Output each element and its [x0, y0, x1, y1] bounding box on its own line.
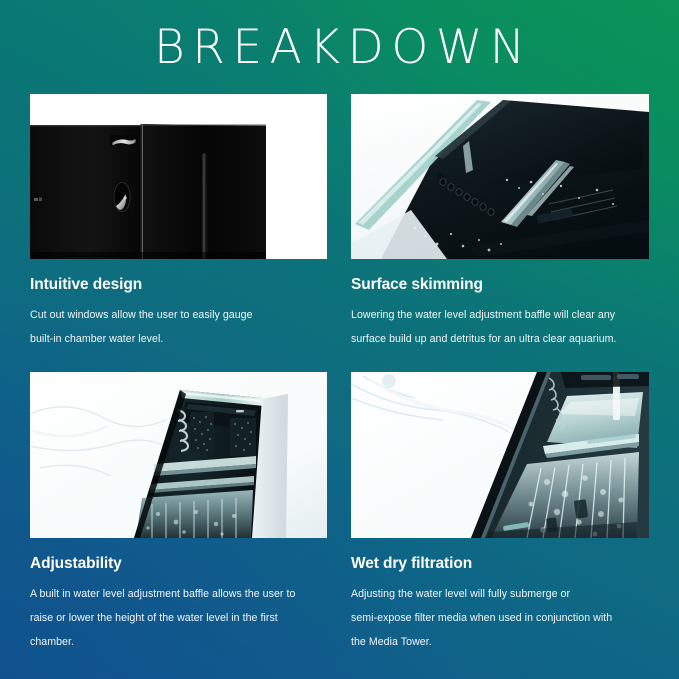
overflow-chamber-vertical-illustration	[30, 372, 327, 538]
feature-image-adjustability	[30, 372, 327, 538]
feature-title-wet-dry-filtration: Wet dry filtration	[351, 554, 649, 573]
breakdown-poster: BREAKDOWN	[0, 0, 679, 679]
feature-image-wet-dry-filtration	[351, 372, 649, 538]
overflow-box-front-illustration	[30, 94, 327, 259]
feature-body-intuitive-design-line-2: built-in chamber water level.	[30, 327, 327, 351]
feature-text-surface-skimming: Surface skimming Lowering the water leve…	[351, 259, 649, 351]
feature-body-adjustability-line-1: A built in water level adjustment baffle…	[30, 582, 327, 606]
filter-media-chamber-illustration	[351, 372, 649, 538]
feature-cell-intuitive-design: Intuitive design Cut out windows allow t…	[30, 94, 327, 351]
overflow-chamber-top-illustration	[351, 94, 649, 259]
feature-body-adjustability-line-3: chamber.	[30, 630, 327, 654]
feature-title-adjustability: Adjustability	[30, 554, 327, 573]
feature-cell-wet-dry-filtration: Wet dry filtration Adjusting the water l…	[351, 372, 649, 654]
feature-row-bottom: Adjustability A built in water level adj…	[30, 372, 649, 654]
feature-text-wet-dry-filtration: Wet dry filtration Adjusting the water l…	[351, 538, 649, 654]
feature-body-adjustability-line-2: raise or lower the height of the water l…	[30, 606, 327, 630]
feature-body-surface-skimming-line-1: Lowering the water level adjustment baff…	[351, 303, 649, 327]
feature-cell-adjustability: Adjustability A built in water level adj…	[30, 372, 327, 654]
feature-title-intuitive-design: Intuitive design	[30, 275, 327, 294]
feature-image-intuitive-design	[30, 94, 327, 259]
feature-body-wet-dry-filtration-line-2: semi-expose filter media when used in co…	[351, 606, 649, 630]
feature-cell-surface-skimming: Surface skimming Lowering the water leve…	[351, 94, 649, 351]
feature-text-intuitive-design: Intuitive design Cut out windows allow t…	[30, 259, 327, 351]
feature-body-wet-dry-filtration-line-3: the Media Tower.	[351, 630, 649, 654]
page-title: BREAKDOWN	[0, 21, 679, 75]
feature-body-intuitive-design-line-1: Cut out windows allow the user to easily…	[30, 303, 327, 327]
feature-body-wet-dry-filtration-line-1: Adjusting the water level will fully sub…	[351, 582, 649, 606]
feature-image-surface-skimming	[351, 94, 649, 259]
feature-title-surface-skimming: Surface skimming	[351, 275, 649, 294]
feature-text-adjustability: Adjustability A built in water level adj…	[30, 538, 327, 654]
feature-row-top: Intuitive design Cut out windows allow t…	[30, 94, 649, 351]
feature-body-surface-skimming-line-2: surface build up and detritus for an ult…	[351, 327, 649, 351]
feature-grid: Intuitive design Cut out windows allow t…	[30, 94, 649, 654]
